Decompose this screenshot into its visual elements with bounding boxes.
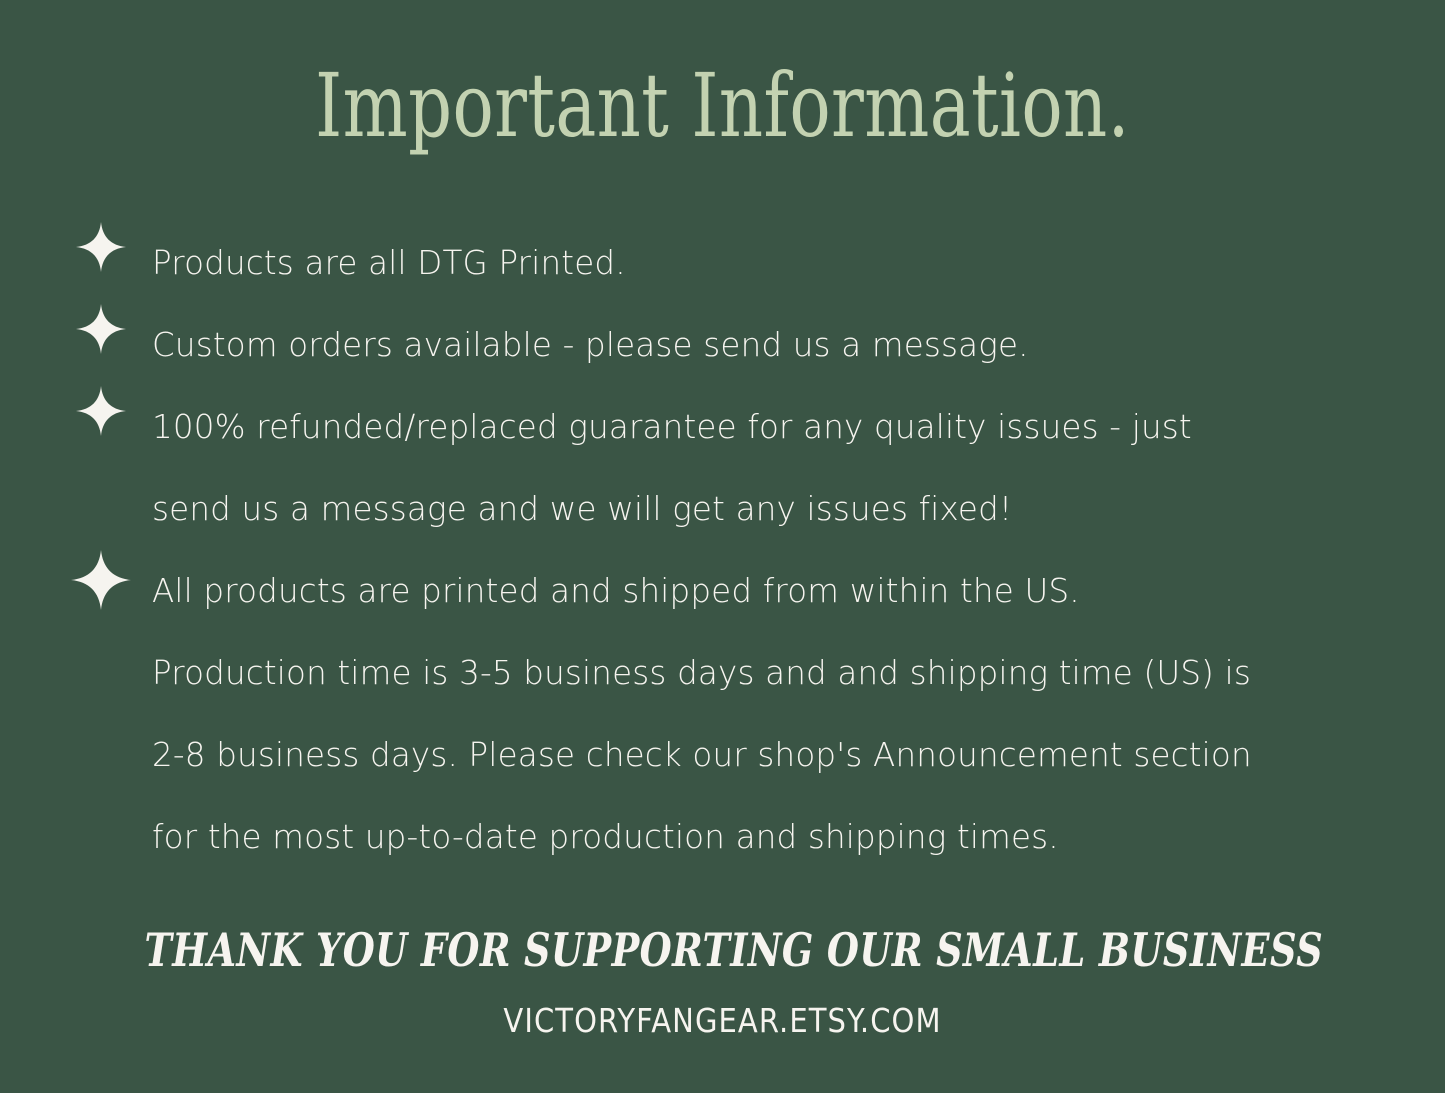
list-item-text: All products are printed and shipped fro… [152,550,1390,878]
list-item-line: Production time is 3-5 business days and… [152,632,1371,714]
list-item-line: Custom orders available - please send us… [152,304,1371,386]
list-item-line: 100% refunded/replaced guarantee for any… [152,386,1371,468]
shop-url: VICTORYFANGEAR.ETSY.COM [87,1003,1359,1039]
list-item-text: Custom orders available - please send us… [152,304,1390,386]
list-item: All products are printed and shipped fro… [70,550,1390,878]
list-item-line: Products are all DTG Printed. [152,222,1371,304]
list-item-line: 2-8 business days. Please check our shop… [152,714,1371,796]
four-point-sparkle-icon [76,304,126,354]
info-list: Products are all DTG Printed. Custom ord… [70,222,1390,878]
list-item-text: 100% refunded/replaced guarantee for any… [152,386,1390,550]
list-item: Custom orders available - please send us… [70,304,1390,386]
four-point-sparkle-icon [76,222,126,272]
list-item-line: All products are printed and shipped fro… [152,550,1371,632]
thank-you-tagline: THANK YOU FOR SUPPORTING OUR SMALL BUSIN… [145,925,1301,976]
list-item-line: send us a message and we will get any is… [152,468,1371,550]
four-point-sparkle-icon [71,550,131,610]
list-item-text: Products are all DTG Printed. [152,222,1390,304]
list-item-line: for the most up-to-date production and s… [152,796,1371,878]
page-title: Important Information. [159,60,1286,152]
list-item: Products are all DTG Printed. [70,222,1390,304]
list-item: 100% refunded/replaced guarantee for any… [70,386,1390,550]
important-information-card: Important Information. Products are all … [0,0,1445,1093]
four-point-sparkle-icon [76,386,126,436]
